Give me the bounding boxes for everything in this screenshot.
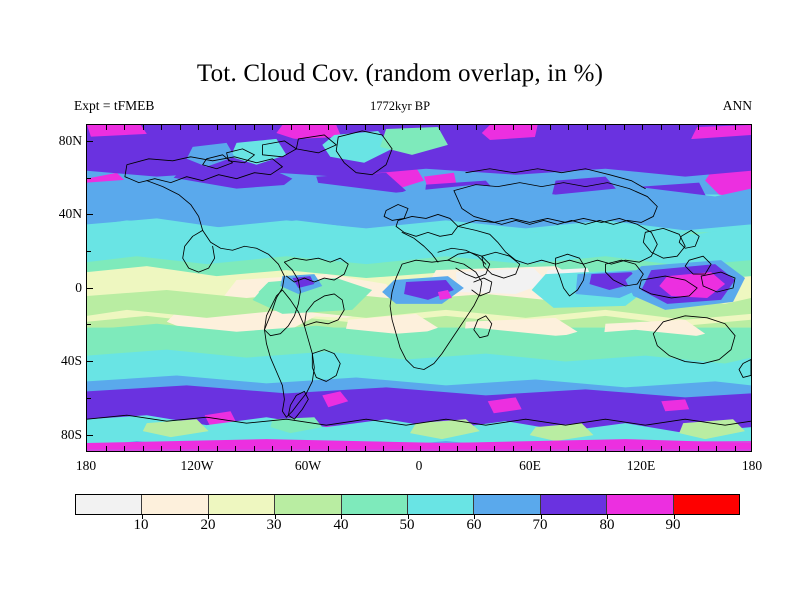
xtick-mark bbox=[291, 446, 292, 451]
xtick-mark bbox=[254, 125, 255, 130]
xtick-mark bbox=[106, 446, 107, 451]
xtick-mark bbox=[124, 125, 125, 130]
xtick-mark bbox=[365, 446, 366, 451]
map-plot-area bbox=[86, 124, 752, 452]
colorbar-band-60-70 bbox=[474, 495, 540, 514]
xtick-mark bbox=[494, 125, 495, 130]
xtick-mark bbox=[605, 446, 606, 451]
colorbar-tick-mark bbox=[208, 515, 209, 519]
xtick-mark bbox=[439, 125, 440, 130]
xtick-mark bbox=[309, 125, 310, 130]
colorbar-tick-mark bbox=[275, 515, 276, 519]
ytick-mark-minor bbox=[86, 398, 91, 399]
xtick-mark bbox=[217, 125, 218, 130]
ytick-mark-minor bbox=[86, 178, 91, 179]
xtick-mark bbox=[291, 125, 292, 130]
xtick-mark bbox=[217, 446, 218, 451]
ytick-mark-minor bbox=[86, 324, 91, 325]
ytick-label-80n: 80N bbox=[36, 133, 82, 149]
colorbar-band-90-100 bbox=[674, 495, 739, 514]
period-label: 1772kyr BP bbox=[0, 99, 800, 114]
colorbar-tick-mark bbox=[541, 515, 542, 519]
xtick-mark bbox=[235, 125, 236, 130]
xtick-label-60e: 60E bbox=[519, 458, 541, 474]
xtick-mark bbox=[328, 446, 329, 451]
xtick-mark bbox=[550, 446, 551, 451]
xtick-mark bbox=[161, 446, 162, 451]
colorbar-label-50: 50 bbox=[400, 517, 415, 534]
colorbar-band-30-40 bbox=[275, 495, 341, 514]
xtick-mark bbox=[272, 125, 273, 130]
xtick-mark bbox=[642, 125, 643, 130]
xtick-mark bbox=[587, 125, 588, 130]
xtick-mark bbox=[328, 125, 329, 130]
colorbar-tick-mark bbox=[341, 515, 342, 519]
ytick-mark bbox=[86, 288, 93, 289]
xtick-mark bbox=[346, 446, 347, 451]
colorbar-tick-mark bbox=[607, 515, 608, 519]
xtick-mark bbox=[180, 446, 181, 451]
xtick-mark bbox=[513, 125, 514, 130]
xtick-mark bbox=[735, 446, 736, 451]
colorbar-tick-mark bbox=[408, 515, 409, 519]
xtick-label-120e: 120E bbox=[627, 458, 656, 474]
xtick-mark bbox=[309, 446, 310, 451]
colorbar-label-20: 20 bbox=[201, 517, 216, 534]
ytick-label-40s: 40S bbox=[36, 353, 82, 369]
colorbar-label-30: 30 bbox=[267, 517, 282, 534]
colorbar-label-90: 90 bbox=[666, 517, 681, 534]
xtick-mark bbox=[346, 125, 347, 130]
xtick-label-60w: 60W bbox=[295, 458, 321, 474]
xtick-label-180w: 180 bbox=[76, 458, 96, 474]
colorbar-label-60: 60 bbox=[467, 517, 482, 534]
colorbar bbox=[75, 494, 740, 515]
xtick-mark bbox=[605, 125, 606, 130]
colorbar-label-40: 40 bbox=[334, 517, 349, 534]
xtick-mark bbox=[143, 125, 144, 130]
xtick-mark bbox=[698, 125, 699, 130]
colorbar-band-80-90 bbox=[607, 495, 673, 514]
colorbar-tick-mark bbox=[142, 515, 143, 519]
xtick-mark bbox=[272, 446, 273, 451]
colorbar-label-10: 10 bbox=[134, 517, 149, 534]
xtick-mark bbox=[180, 125, 181, 130]
xtick-mark bbox=[198, 125, 199, 130]
xtick-label-0: 0 bbox=[416, 458, 423, 474]
xtick-mark bbox=[198, 446, 199, 451]
colorbar-tick-mark bbox=[474, 515, 475, 519]
xtick-mark bbox=[476, 125, 477, 130]
cloud-cover-map-figure: Tot. Cloud Cov. (random overlap, in %) E… bbox=[0, 0, 800, 600]
ytick-label-40n: 40N bbox=[36, 206, 82, 222]
xtick-mark bbox=[716, 125, 717, 130]
xtick-mark bbox=[661, 446, 662, 451]
colorbar-band-40-50 bbox=[342, 495, 408, 514]
ytick-label-80s: 80S bbox=[36, 427, 82, 443]
xtick-mark bbox=[698, 446, 699, 451]
colorbar-label-80: 80 bbox=[600, 517, 615, 534]
xtick-mark bbox=[365, 125, 366, 130]
xtick-mark bbox=[420, 125, 421, 130]
xtick-mark bbox=[735, 125, 736, 130]
xtick-mark bbox=[439, 446, 440, 451]
xtick-mark bbox=[420, 446, 421, 451]
xtick-mark bbox=[383, 446, 384, 451]
xtick-mark bbox=[161, 125, 162, 130]
colorbar-band-20-30 bbox=[209, 495, 275, 514]
xtick-mark bbox=[383, 125, 384, 130]
xtick-mark bbox=[457, 125, 458, 130]
xtick-mark bbox=[476, 446, 477, 451]
ytick-label-0: 0 bbox=[36, 280, 82, 296]
contour-field bbox=[87, 125, 751, 451]
xtick-mark bbox=[124, 446, 125, 451]
xtick-mark bbox=[106, 125, 107, 130]
colorbar-band-10-20 bbox=[142, 495, 208, 514]
colorbar-band-70-80 bbox=[541, 495, 607, 514]
xtick-mark bbox=[624, 125, 625, 130]
xtick-label-120w: 120W bbox=[181, 458, 214, 474]
ytick-mark bbox=[86, 214, 93, 215]
xtick-mark bbox=[568, 446, 569, 451]
xtick-mark bbox=[402, 125, 403, 130]
xtick-mark bbox=[550, 125, 551, 130]
xtick-mark bbox=[254, 446, 255, 451]
xtick-mark bbox=[568, 125, 569, 130]
xtick-mark bbox=[531, 446, 532, 451]
xtick-mark bbox=[624, 446, 625, 451]
xtick-mark bbox=[716, 446, 717, 451]
xtick-mark bbox=[457, 446, 458, 451]
xtick-mark bbox=[587, 446, 588, 451]
xtick-mark bbox=[661, 125, 662, 130]
xtick-mark bbox=[494, 446, 495, 451]
xtick-mark bbox=[679, 446, 680, 451]
season-label: ANN bbox=[723, 98, 752, 114]
xtick-mark bbox=[235, 446, 236, 451]
ytick-mark-minor bbox=[86, 251, 91, 252]
xtick-mark bbox=[642, 446, 643, 451]
figure-title: Tot. Cloud Cov. (random overlap, in %) bbox=[0, 60, 800, 88]
xtick-mark bbox=[531, 125, 532, 130]
colorbar-band-50-60 bbox=[408, 495, 474, 514]
xtick-mark bbox=[143, 446, 144, 451]
xtick-mark bbox=[513, 446, 514, 451]
ytick-mark bbox=[86, 435, 93, 436]
ytick-mark bbox=[86, 361, 93, 362]
xtick-mark bbox=[679, 125, 680, 130]
colorbar-label-70: 70 bbox=[533, 517, 548, 534]
ytick-mark bbox=[86, 141, 93, 142]
xtick-mark bbox=[402, 446, 403, 451]
xtick-label-180e: 180 bbox=[742, 458, 762, 474]
colorbar-tick-mark bbox=[674, 515, 675, 519]
colorbar-band-0-10 bbox=[76, 495, 142, 514]
